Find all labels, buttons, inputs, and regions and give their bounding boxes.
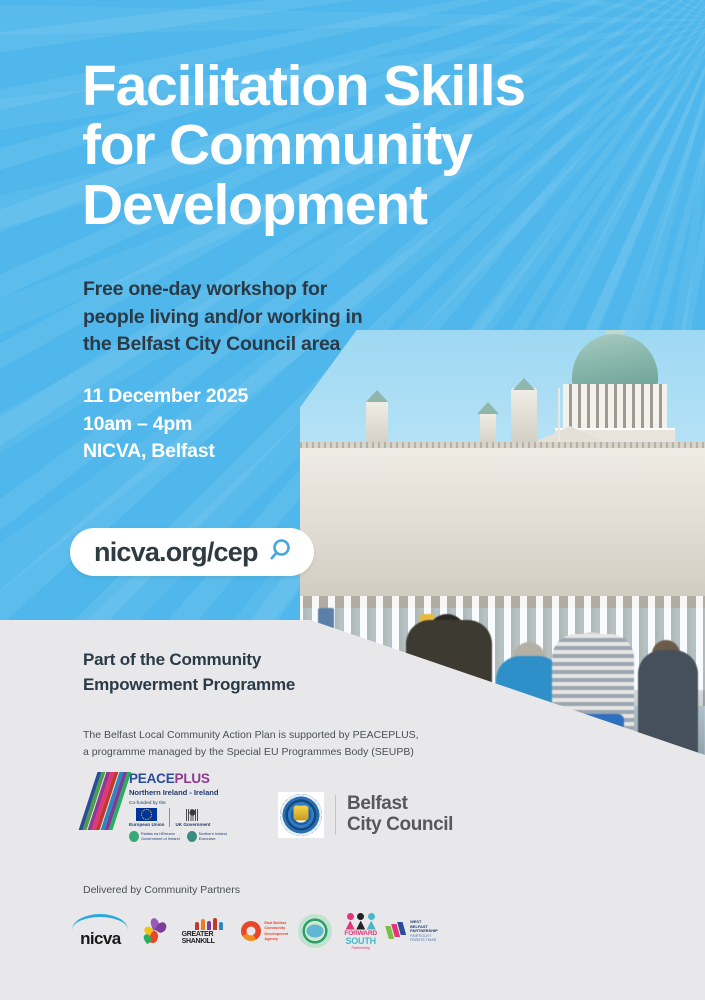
title-line-1: Facilitation Skills	[82, 57, 642, 116]
partner-logo-community-partnership	[293, 909, 336, 953]
partner-logo-community-foundation	[131, 909, 182, 953]
ni-executive-logo: Northern Ireland Executive	[187, 831, 227, 842]
shamrock-icon	[187, 831, 197, 842]
programme-line-1: Part of the Community	[83, 648, 423, 673]
belfast-city-council-name: Belfast City Council	[347, 794, 453, 836]
bcc-line-2: City Council	[347, 814, 453, 835]
page-title: Facilitation Skills for Community Develo…	[82, 57, 642, 235]
ebcda-line-2: Community	[264, 926, 288, 930]
bcc-line-1: Belfast	[347, 793, 408, 814]
city-hall-turret	[511, 388, 537, 450]
belfast-city-council-logo: Belfast City Council	[278, 792, 453, 838]
partners-label: Delivered by Community Partners	[83, 884, 240, 896]
nicva-wordmark: nicva	[80, 929, 120, 949]
ebcda-line-3: Development	[264, 932, 288, 936]
event-time: 10am – 4pm	[83, 411, 248, 439]
subtitle-line-2: people living and/or working in	[83, 304, 463, 332]
nicva-arc-icon	[72, 914, 128, 930]
partner-logo-nicva: nicva	[70, 909, 131, 953]
partner-logos-row: nicva GREATER SHANKILL	[70, 908, 440, 954]
funding-note: The Belfast Local Community Action Plan …	[83, 727, 503, 761]
logo-divider	[335, 795, 336, 835]
west-belfast-chevron-icon	[385, 922, 407, 940]
subtitle: Free one-day workshop for people living …	[83, 276, 463, 359]
search-icon	[270, 537, 296, 568]
event-details: 11 December 2025 10am – 4pm NICVA, Belfa…	[83, 383, 248, 466]
funding-note-line-2: a programme managed by the Special EU Pr…	[83, 744, 503, 761]
event-venue: NICVA, Belfast	[83, 438, 248, 466]
eu-flag-icon	[136, 808, 157, 821]
flagpole	[558, 388, 560, 450]
flower-icon	[143, 918, 169, 944]
peaceplus-cofunded-label: Co-funded by the	[129, 801, 254, 806]
gov-ireland-line-2: Government of Ireland	[141, 836, 180, 841]
poster-canvas: Facilitation Skills for Community Develo…	[0, 0, 705, 1000]
ni-executive-line-2: Executive	[199, 836, 216, 841]
ebcda-line-1: East Belfast	[264, 921, 288, 925]
european-union-label: European Union	[129, 822, 164, 827]
forward-south-line-3: Partnership	[352, 946, 370, 950]
website-url-pill[interactable]: nicva.org/cep	[70, 528, 314, 576]
partner-logo-forward-south: FORWARD SOUTH Partnership	[336, 909, 385, 953]
belfast-city-council-crest-icon	[278, 792, 324, 838]
subtitle-line-1: Free one-day workshop for	[83, 276, 463, 304]
programme-line-2: Empowerment Programme	[83, 673, 423, 698]
ebcda-line-4: Agency	[264, 937, 288, 941]
dome-cap	[572, 334, 658, 388]
uk-crest-icon	[186, 809, 199, 821]
dome-colonnade	[563, 384, 667, 433]
funding-note-line-1: The Belfast Local Community Action Plan …	[83, 727, 503, 744]
partner-logo-west-belfast-partnership: WEST BELFAST PARTNERSHIP PÁIRTÍOCHT FEIR…	[385, 909, 440, 953]
community-partnership-badge-icon	[298, 914, 332, 948]
title-line-3: Development	[82, 176, 642, 235]
greater-shankill-figures-icon	[195, 917, 223, 930]
event-date: 11 December 2025	[83, 383, 248, 411]
partner-logo-east-belfast-cda: East Belfast Community Development Agenc…	[236, 909, 293, 953]
peaceplus-wordmark: PEACEPLUS	[129, 772, 254, 786]
forward-south-line-2: SOUTH	[345, 937, 376, 946]
east-belfast-swirl-icon	[241, 921, 261, 941]
uk-government-logo: UK Government	[175, 809, 210, 827]
partner-logo-greater-shankill: GREATER SHANKILL	[182, 909, 237, 953]
uk-government-label: UK Government	[175, 822, 210, 827]
peaceplus-word-part1: PEACE	[129, 771, 175, 786]
government-of-ireland-logo: Rialtas na hÉireann Government of Irelan…	[129, 831, 180, 842]
peaceplus-subtitle: Northern Ireland - Ireland	[129, 788, 254, 797]
harp-icon	[129, 831, 139, 842]
title-line-2: for Community	[82, 116, 642, 175]
website-url-text: nicva.org/cep	[94, 537, 258, 568]
subtitle-line-3: the Belfast City Council area	[83, 331, 463, 359]
european-union-logo: European Union	[129, 808, 170, 827]
forward-south-people-icon	[346, 913, 376, 930]
greater-shankill-wordmark: GREATER SHANKILL	[182, 931, 237, 945]
peaceplus-word-part2: PLUS	[175, 771, 210, 786]
peaceplus-logo: PEACEPLUS Northern Ireland - Ireland Co-…	[88, 772, 254, 848]
wbp-sub-line-2: FEIRSTE THIAR	[410, 938, 440, 942]
programme-heading: Part of the Community Empowerment Progra…	[83, 648, 423, 697]
